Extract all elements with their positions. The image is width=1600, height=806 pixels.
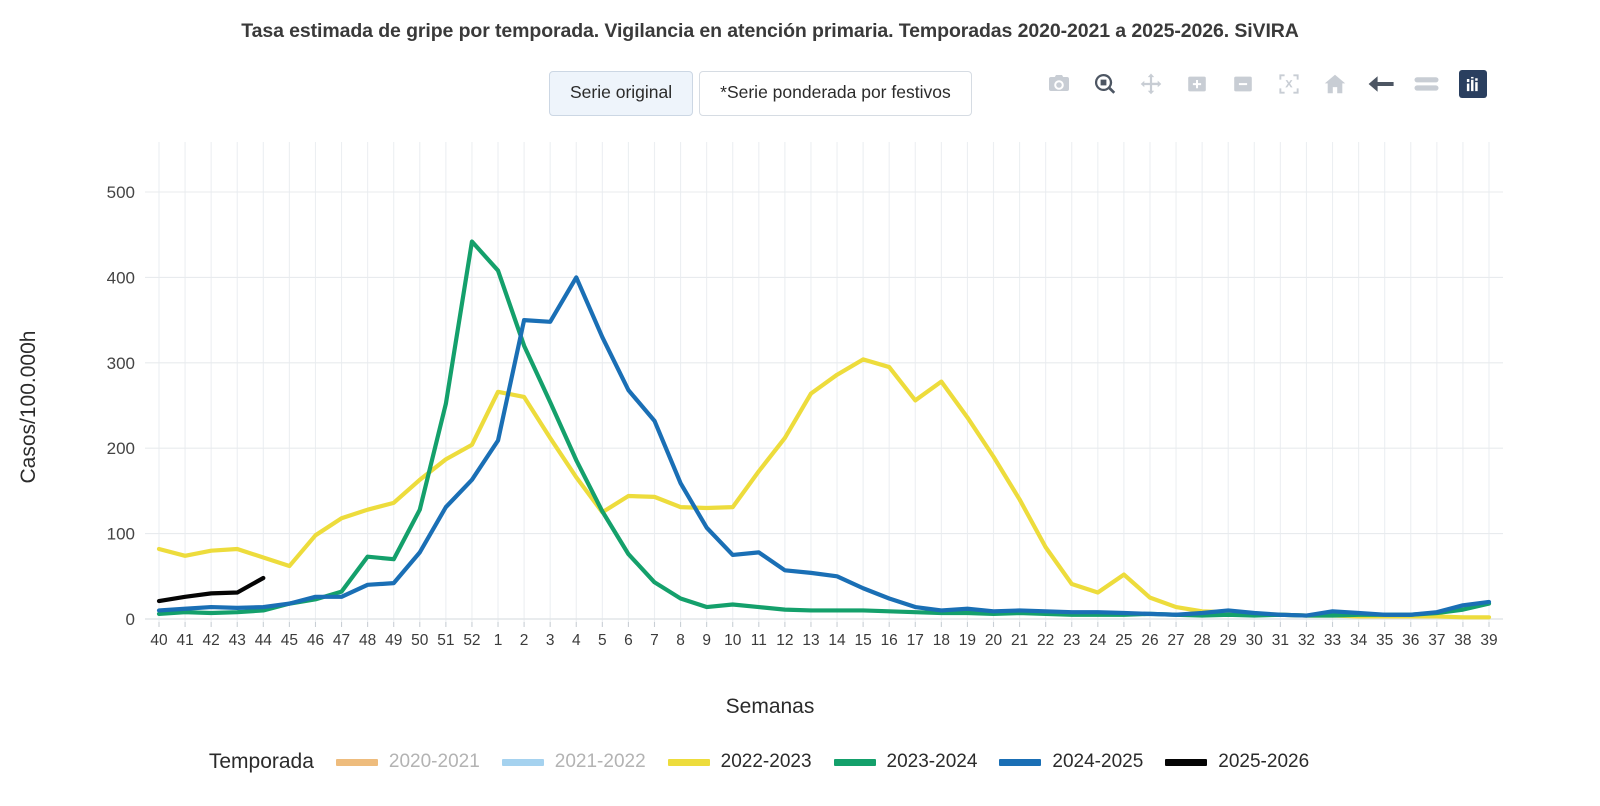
svg-text:30: 30 xyxy=(1246,632,1264,649)
legend-title: Temporada xyxy=(209,750,314,774)
svg-text:36: 36 xyxy=(1402,632,1419,649)
svg-text:400: 400 xyxy=(107,268,135,287)
plotly-modebar[interactable] xyxy=(1036,68,1496,100)
spike-lines-icon[interactable] xyxy=(1358,68,1404,100)
legend-label-2024-2025: 2024-2025 xyxy=(1052,751,1143,773)
serie-original-button[interactable]: Serie original xyxy=(549,71,693,116)
serie-ponderada-festivos-button[interactable]: *Serie ponderada por festivos xyxy=(699,71,972,116)
legend-item-2021-2022[interactable]: 2021-2022 xyxy=(502,751,646,773)
svg-text:42: 42 xyxy=(203,632,220,649)
legend-label-2023-2024: 2023-2024 xyxy=(887,751,978,773)
svg-text:6: 6 xyxy=(624,632,633,649)
svg-text:24: 24 xyxy=(1089,632,1107,649)
svg-text:2: 2 xyxy=(520,632,529,649)
svg-text:27: 27 xyxy=(1167,632,1184,649)
svg-text:51: 51 xyxy=(437,632,454,649)
y-tick-labels: 0100200300400500 xyxy=(107,183,135,629)
svg-text:4: 4 xyxy=(572,632,581,649)
legend-item-2024-2025[interactable]: 2024-2025 xyxy=(999,751,1143,773)
svg-text:34: 34 xyxy=(1350,632,1368,649)
pan-arrows-icon[interactable] xyxy=(1128,68,1174,100)
zoom-out-minus-icon[interactable] xyxy=(1220,68,1266,100)
series-line-2024-2025 xyxy=(159,277,1489,615)
svg-text:26: 26 xyxy=(1141,632,1158,649)
svg-text:200: 200 xyxy=(107,439,135,458)
legend-swatch-2022-2023 xyxy=(668,759,710,766)
legend-item-2020-2021[interactable]: 2020-2021 xyxy=(336,751,480,773)
svg-text:25: 25 xyxy=(1115,632,1132,649)
svg-text:21: 21 xyxy=(1011,632,1028,649)
legend-swatch-2023-2024 xyxy=(834,759,876,766)
svg-text:39: 39 xyxy=(1480,632,1497,649)
svg-text:1: 1 xyxy=(494,632,503,649)
svg-text:300: 300 xyxy=(107,354,135,373)
svg-text:12: 12 xyxy=(776,632,793,649)
svg-text:16: 16 xyxy=(881,632,898,649)
legend-item-2025-2026[interactable]: 2025-2026 xyxy=(1165,751,1309,773)
legend-swatch-2021-2022 xyxy=(502,759,544,766)
line-chart-plot[interactable]: 0100200300400500404142434445464748495051… xyxy=(0,0,1600,806)
legend-label-2020-2021: 2020-2021 xyxy=(389,751,480,773)
svg-text:38: 38 xyxy=(1454,632,1471,649)
svg-text:40: 40 xyxy=(150,632,168,649)
page-title: Tasa estimada de gripe por temporada. Vi… xyxy=(0,20,1540,43)
svg-text:48: 48 xyxy=(359,632,376,649)
svg-text:52: 52 xyxy=(463,632,480,649)
x-tick-labels: 4041424344454647484950515212345678910111… xyxy=(150,622,1497,649)
legend-label-2022-2023: 2022-2023 xyxy=(721,751,812,773)
compare-data-icon[interactable] xyxy=(1404,68,1450,100)
svg-text:14: 14 xyxy=(828,632,846,649)
svg-text:100: 100 xyxy=(107,525,135,544)
svg-text:13: 13 xyxy=(802,632,819,649)
legend-swatch-2025-2026 xyxy=(1165,759,1207,766)
svg-text:22: 22 xyxy=(1037,632,1054,649)
autoscale-icon[interactable] xyxy=(1266,68,1312,100)
series-line-2023-2024 xyxy=(159,242,1489,616)
svg-text:0: 0 xyxy=(126,610,135,629)
svg-text:19: 19 xyxy=(959,632,976,649)
series-mode-button-group[interactable]: Serie original *Serie ponderada por fest… xyxy=(549,71,972,116)
svg-text:20: 20 xyxy=(985,632,1003,649)
svg-text:3: 3 xyxy=(546,632,555,649)
gridlines xyxy=(145,142,1503,622)
svg-text:49: 49 xyxy=(385,632,402,649)
svg-text:8: 8 xyxy=(676,632,685,649)
svg-text:46: 46 xyxy=(307,632,324,649)
series-line-2022-2023 xyxy=(159,359,1489,617)
reset-home-icon[interactable] xyxy=(1312,68,1358,100)
chart-legend[interactable]: Temporada 2020-2021 2021-2022 2022-2023 … xyxy=(0,750,1540,774)
svg-text:33: 33 xyxy=(1324,632,1341,649)
svg-text:10: 10 xyxy=(724,632,742,649)
svg-text:9: 9 xyxy=(702,632,711,649)
legend-swatch-2024-2025 xyxy=(999,759,1041,766)
svg-text:43: 43 xyxy=(229,632,246,649)
svg-text:31: 31 xyxy=(1272,632,1289,649)
svg-text:18: 18 xyxy=(933,632,950,649)
svg-text:15: 15 xyxy=(854,632,871,649)
svg-text:50: 50 xyxy=(411,632,429,649)
legend-label-2025-2026: 2025-2026 xyxy=(1218,751,1309,773)
x-axis-title: Semanas xyxy=(0,695,1540,719)
legend-swatch-2020-2021 xyxy=(336,759,378,766)
svg-text:44: 44 xyxy=(255,632,273,649)
download-camera-icon[interactable] xyxy=(1036,68,1082,100)
svg-text:32: 32 xyxy=(1298,632,1315,649)
bar-chart-icon[interactable] xyxy=(1450,68,1496,100)
y-axis-title: Casos/100.000h xyxy=(17,227,41,587)
legend-item-2023-2024[interactable]: 2023-2024 xyxy=(834,751,978,773)
zoom-magnifier-icon[interactable] xyxy=(1082,68,1128,100)
svg-text:45: 45 xyxy=(281,632,298,649)
legend-item-2022-2023[interactable]: 2022-2023 xyxy=(668,751,812,773)
svg-text:35: 35 xyxy=(1376,632,1393,649)
svg-text:29: 29 xyxy=(1220,632,1237,649)
svg-text:7: 7 xyxy=(650,632,659,649)
svg-text:41: 41 xyxy=(176,632,193,649)
legend-label-2021-2022: 2021-2022 xyxy=(555,751,646,773)
svg-text:47: 47 xyxy=(333,632,350,649)
svg-text:37: 37 xyxy=(1428,632,1445,649)
svg-text:11: 11 xyxy=(751,632,767,649)
svg-text:17: 17 xyxy=(907,632,924,649)
series-line-2025-2026 xyxy=(159,578,263,601)
svg-text:23: 23 xyxy=(1063,632,1080,649)
svg-text:500: 500 xyxy=(107,183,135,202)
svg-text:28: 28 xyxy=(1194,632,1211,649)
svg-text:5: 5 xyxy=(598,632,607,649)
zoom-in-plus-icon[interactable] xyxy=(1174,68,1220,100)
